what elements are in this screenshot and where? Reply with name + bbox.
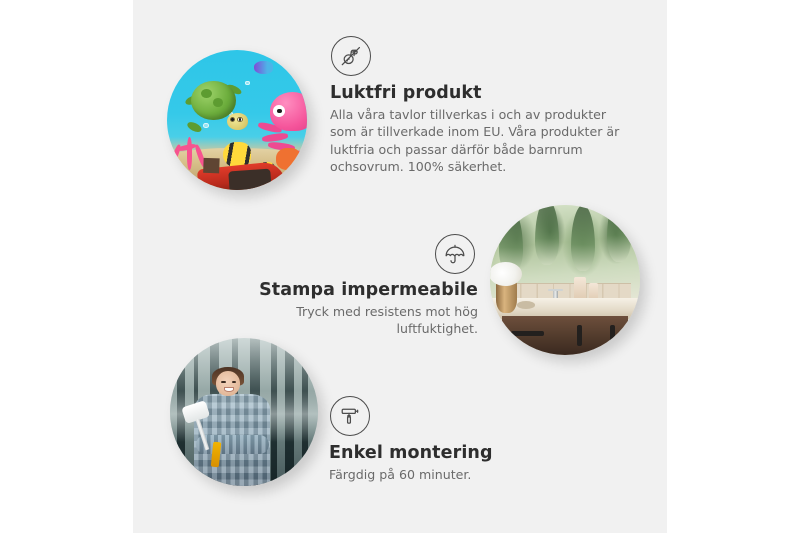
paint-roller-icon — [329, 396, 599, 436]
product-image-bathroom[interactable] — [490, 205, 640, 355]
soap-dish — [517, 301, 535, 309]
starfish-illustration — [276, 148, 301, 170]
drawer-handle — [511, 331, 544, 336]
feature-body: Färgdig på 60 minuter. — [329, 466, 599, 483]
cabinet-handle — [610, 325, 615, 346]
fish-purple — [254, 61, 274, 74]
feature-odorless: Luktfri produkt Alla våra tavlor tillver… — [330, 36, 626, 176]
product-image-underwater[interactable] — [167, 50, 307, 190]
product-feature-canvas: Luktfri produkt Alla våra tavlor tillver… — [133, 0, 667, 533]
white-flowers — [490, 262, 522, 286]
feature-title: Stampa impermeabile — [213, 280, 478, 300]
shipwreck-hull — [228, 169, 271, 190]
feature-easy-mounting: Enkel montering Färgdig på 60 minuter. — [329, 396, 599, 483]
feature-title: Luktfri produkt — [330, 83, 626, 103]
cabinet-handle — [577, 325, 582, 346]
feature-body: Alla våra tavlor tillverkas i och av pro… — [330, 106, 626, 176]
product-image-forest[interactable] — [170, 338, 318, 486]
woman-illustration — [191, 371, 274, 486]
leaf-shape — [607, 205, 631, 262]
bubble-icon — [245, 81, 249, 85]
leaf-shape — [535, 205, 559, 265]
feature-title: Enkel montering — [329, 443, 599, 463]
feature-waterproof: Stampa impermeabile Tryck med resistens … — [213, 234, 478, 338]
feature-body: Tryck med resistens mot hög luftfuktighe… — [213, 303, 478, 338]
screenshot-stage: Luktfri produkt Alla våra tavlor tillver… — [0, 0, 800, 533]
turtle-illustration — [184, 81, 246, 131]
no-spray-bottle-icon — [330, 36, 626, 76]
umbrella-icon — [213, 234, 478, 274]
